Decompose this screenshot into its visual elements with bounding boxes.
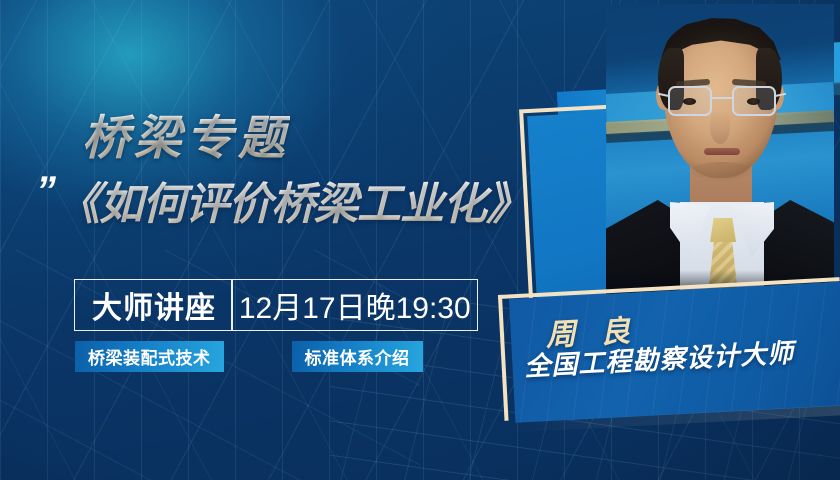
- subtitle-row: ” 《如何评价桥梁工业化》 ”: [36, 168, 545, 232]
- topic-tag: 桥梁装配式技术: [75, 341, 224, 372]
- portrait-eye-right: [747, 98, 760, 105]
- quote-open-icon: ”: [36, 174, 54, 208]
- portrait-necktie-knot: [710, 218, 736, 242]
- topic-tag-list: 桥梁装配式技术 标准体系介绍: [75, 341, 423, 372]
- tag-spacer: [224, 341, 292, 372]
- speaker-name-text-group: 周 良 全国工程勘察设计大师: [495, 281, 840, 429]
- lecture-promo-poster: 桥梁专题 ” 《如何评价桥梁工业化》 ” 大师讲座 12月17日晚19:30 桥…: [0, 0, 840, 480]
- glasses-bridge: [711, 97, 733, 99]
- portrait-mouth: [704, 148, 740, 155]
- lecture-info-box: 大师讲座 12月17日晚19:30: [74, 279, 478, 331]
- topic-tag: 标准体系介绍: [292, 341, 423, 372]
- page-subtitle: 《如何评价桥梁工业化》: [56, 168, 529, 232]
- portrait-chin-shadow: [690, 162, 754, 180]
- lecture-datetime: 12月17日晚19:30: [233, 280, 478, 330]
- speaker-portrait-photo: [606, 4, 834, 300]
- portrait-eye-left: [683, 98, 696, 105]
- portrait-nose: [710, 110, 730, 144]
- lecture-type-label: 大师讲座: [75, 280, 231, 330]
- page-title: 桥梁专题: [82, 99, 290, 168]
